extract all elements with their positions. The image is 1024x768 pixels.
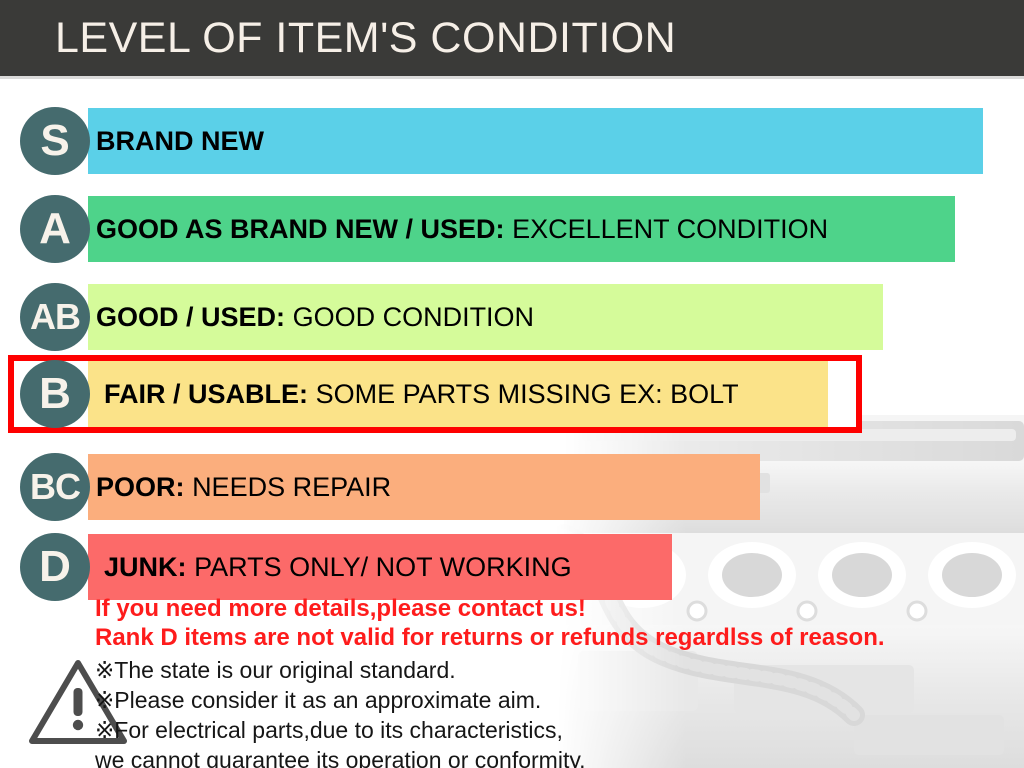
rank-row-a: GOOD AS BRAND NEW / USED:EXCELLENT CONDI… <box>0 196 1024 262</box>
rank-label-bold: FAIR / USABLE: <box>104 379 308 410</box>
rank-label-b: FAIR / USABLE:SOME PARTS MISSING EX: BOL… <box>104 361 739 427</box>
rank-d-return-notice: Rank D items are not valid for returns o… <box>95 624 885 652</box>
header-bar: LEVEL OF ITEM'S CONDITION <box>0 0 1024 76</box>
rank-row-d: JUNK:PARTS ONLY/ NOT WORKINGD <box>0 534 1024 600</box>
disclaimer-notes: ※The state is our original standard.※Ple… <box>95 655 586 768</box>
rank-label-bold: BRAND NEW <box>96 126 264 157</box>
header-divider <box>0 76 1024 79</box>
rank-label-detail: SOME PARTS MISSING EX: BOLT <box>316 379 739 410</box>
rank-label-detail: GOOD CONDITION <box>293 302 535 333</box>
rank-badge-bc: BC <box>20 453 90 521</box>
rank-row-bc: POOR:NEEDS REPAIRBC <box>0 454 1024 520</box>
rank-label-ab: GOOD / USED:GOOD CONDITION <box>96 284 534 350</box>
rank-label-detail: NEEDS REPAIR <box>192 472 391 503</box>
contact-notice: If you need more details,please contact … <box>95 595 586 623</box>
rank-label-d: JUNK:PARTS ONLY/ NOT WORKING <box>104 534 572 600</box>
rank-badge-ab: AB <box>20 283 90 351</box>
page-title: LEVEL OF ITEM'S CONDITION <box>55 14 676 62</box>
rank-label-bold: GOOD / USED: <box>96 302 285 333</box>
rank-label-a: GOOD AS BRAND NEW / USED:EXCELLENT CONDI… <box>96 196 828 262</box>
rank-label-detail: EXCELLENT CONDITION <box>512 214 828 245</box>
disclaimer-note-line: ※For electrical parts,due to its charact… <box>95 715 586 745</box>
rank-row-s: BRAND NEWS <box>0 108 1024 174</box>
rank-label-bc: POOR:NEEDS REPAIR <box>96 454 391 520</box>
rank-label-detail: PARTS ONLY/ NOT WORKING <box>194 552 572 583</box>
disclaimer-note-line: ※Please consider it as an approximate ai… <box>95 685 586 715</box>
rank-badge-b: B <box>20 360 90 428</box>
rank-row-b: FAIR / USABLE:SOME PARTS MISSING EX: BOL… <box>0 361 1024 427</box>
condition-rank-chart: LEVEL OF ITEM'S CONDITION BRAND NEWSGOOD… <box>0 0 1024 768</box>
rank-row-ab: GOOD / USED:GOOD CONDITIONAB <box>0 284 1024 350</box>
disclaimer-note-line: we cannot guarantee its operation or con… <box>95 745 586 768</box>
rank-label-bold: JUNK: <box>104 552 187 583</box>
disclaimer-note-line: ※The state is our original standard. <box>95 655 586 685</box>
rank-label-s: BRAND NEW <box>96 108 272 174</box>
rank-badge-d: D <box>20 533 90 601</box>
rank-label-bold: GOOD AS BRAND NEW / USED: <box>96 214 505 245</box>
rank-badge-a: A <box>20 195 90 263</box>
rank-badge-s: S <box>20 107 90 175</box>
rank-label-bold: POOR: <box>96 472 185 503</box>
